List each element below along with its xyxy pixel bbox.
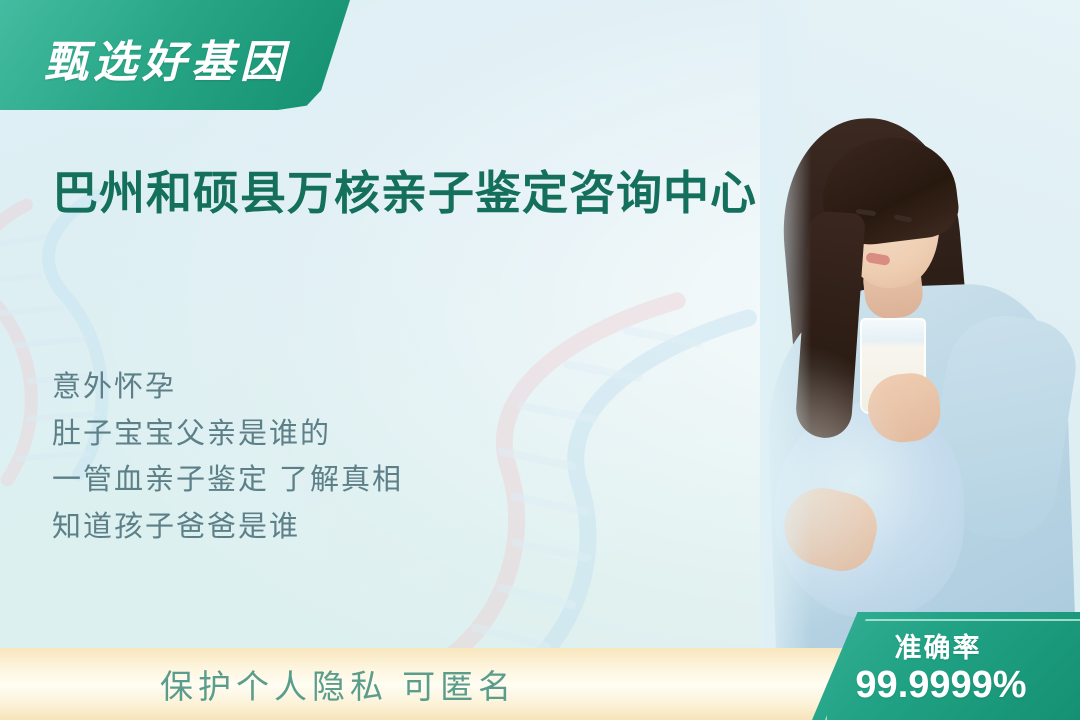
accuracy-value: 99.9999% — [812, 664, 1070, 707]
copy-line: 知道孩子爸爸是谁 — [52, 512, 403, 543]
page-title: 巴州和硕县万核亲子鉴定咨询中心 — [52, 157, 757, 223]
copy-line: 肚子宝宝父亲是谁的 — [52, 419, 403, 450]
accuracy-label: 准确率 — [812, 626, 1064, 665]
copy-block: 意外怀孕 肚子宝宝父亲是谁的 一管血亲子鉴定 了解真相 知道孩子爸爸是谁 — [52, 372, 403, 543]
pregnant-woman-photo — [760, 0, 1080, 660]
brand-name: 甄选好基因 — [44, 26, 289, 90]
promo-poster: 甄选好基因 巴州和硕县万核亲子鉴定咨询中心 意外怀孕 肚子宝宝父亲是谁的 一管血… — [0, 0, 1080, 720]
copy-line: 意外怀孕 — [52, 372, 403, 403]
copy-line: 一管血亲子鉴定 了解真相 — [52, 465, 403, 496]
accuracy-badge: 准确率 99.9999% — [812, 612, 1080, 720]
privacy-tagline: 保护个人隐私 可匿名 — [160, 660, 516, 708]
